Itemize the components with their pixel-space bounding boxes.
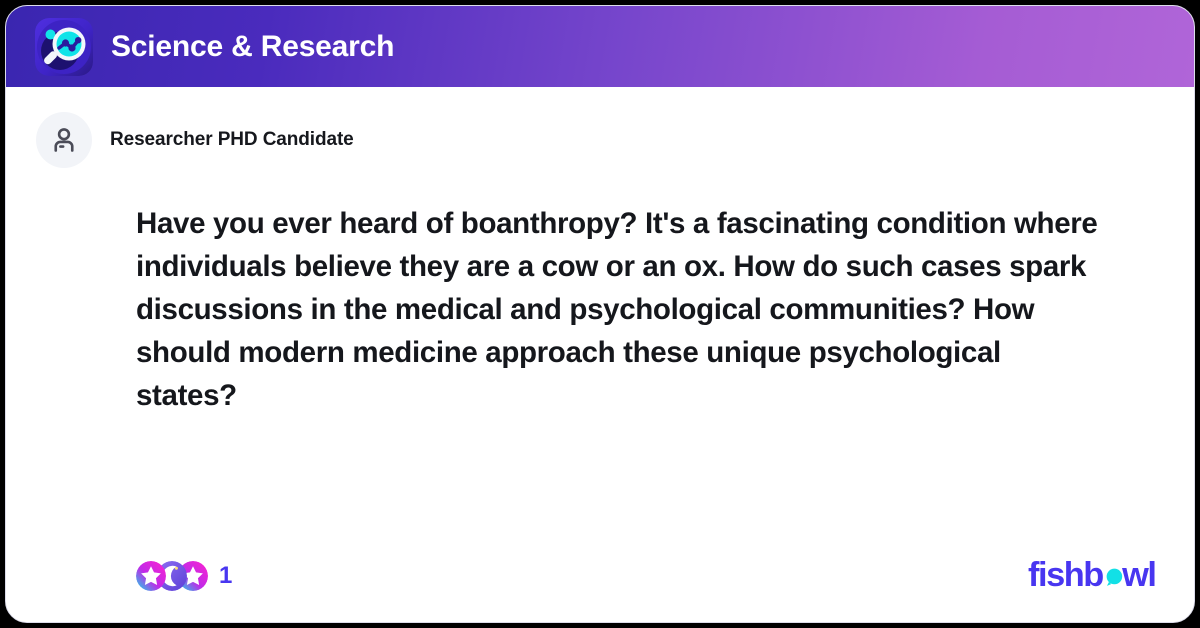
card-body: Researcher PHD Candidate Have you ever h… [6, 87, 1194, 622]
fishbowl-text-part1: fishb [1028, 557, 1103, 594]
fishbowl-text-part2: wl [1121, 557, 1155, 594]
fishbowl-wordmark: fishb wl [1028, 557, 1164, 595]
magnifier-molecule-icon [35, 18, 93, 76]
page-title: Science & Research [111, 32, 394, 62]
post-card: Science & Research Researcher PHD Candid… [5, 5, 1195, 623]
star-reaction-icon[interactable] [136, 561, 166, 591]
avatar [36, 112, 92, 168]
card-header: Science & Research [6, 6, 1194, 87]
card-footer: 1 fishb wl [6, 530, 1194, 622]
fishbowl-o-bubble-icon [1107, 569, 1123, 585]
author-name: Researcher PHD Candidate [110, 129, 354, 151]
reaction-count: 1 [219, 564, 232, 588]
reactions-group[interactable]: 1 [136, 561, 232, 591]
post-text: Have you ever heard of boanthropy? It's … [136, 202, 1106, 417]
author-row: Researcher PHD Candidate [36, 112, 1164, 168]
person-icon [49, 125, 79, 155]
